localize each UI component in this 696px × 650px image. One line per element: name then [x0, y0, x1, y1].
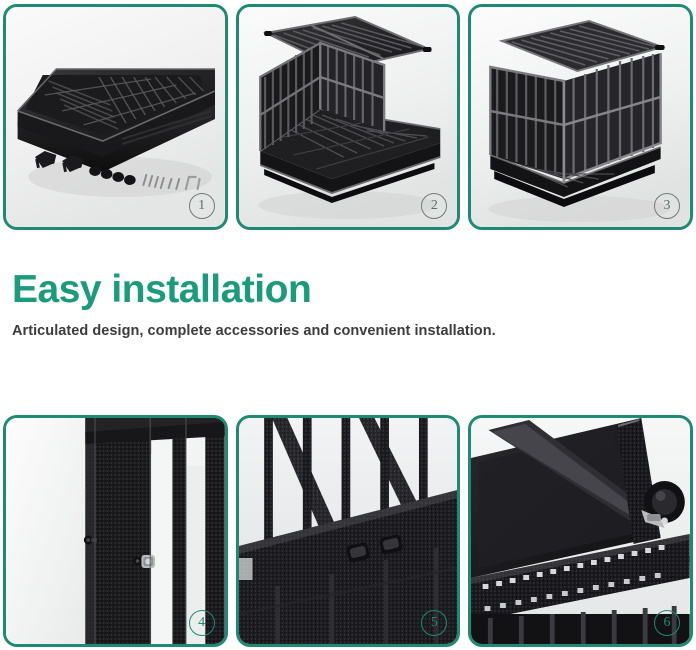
infographic-page: 1 — [0, 0, 696, 650]
photo-detail-removable-tray-and-caster — [471, 418, 690, 644]
photo-detail-hinge-and-diagonal-brace — [239, 418, 458, 644]
photo-flat-packed-panels-with-accessories — [6, 7, 225, 227]
step-badge: 1 — [189, 193, 215, 219]
step-panel-6: 6 — [468, 415, 693, 647]
step-panel-4: 4 — [3, 415, 228, 647]
caption-block: Easy installation Articulated design, co… — [12, 270, 672, 339]
step-panel-3: 3 — [468, 4, 693, 230]
steps-row-top: 1 — [0, 4, 696, 230]
step-badge: 3 — [654, 193, 680, 219]
step-panel-1: 1 — [3, 4, 228, 230]
photo-base-and-side-walls-assembled — [239, 7, 458, 227]
page-subtitle: Articulated design, complete accessories… — [12, 323, 672, 339]
step-panel-2: 2 — [236, 4, 461, 230]
photo-detail-bar-fastener-closeup — [6, 418, 225, 644]
step-panel-5: 5 — [236, 415, 461, 647]
steps-row-bottom: 4 — [0, 415, 696, 647]
step-badge: 6 — [654, 610, 680, 636]
page-title: Easy installation — [12, 270, 672, 311]
step-badge: 4 — [189, 610, 215, 636]
photo-full-cage-assembled-with-roof — [471, 7, 690, 227]
